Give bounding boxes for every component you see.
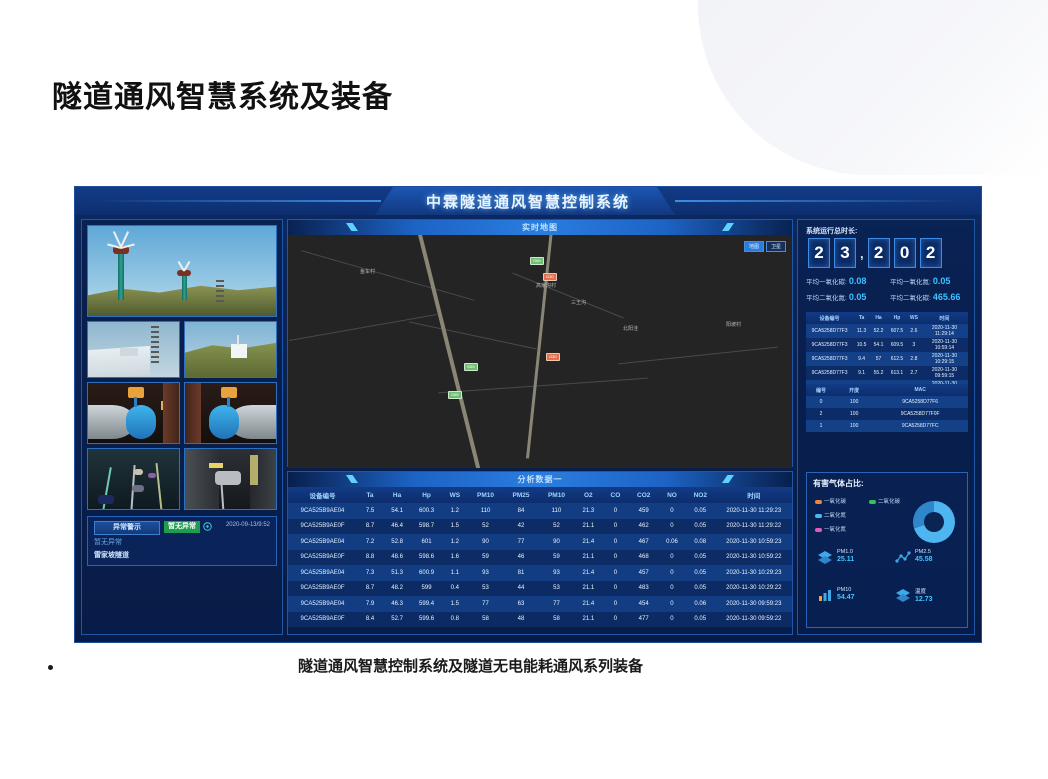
legend-item-no2: 二氧化氮 [815, 511, 846, 519]
avg-co: 平均一氧化碳:0.08 [806, 276, 866, 286]
table-cell: 63 [503, 596, 538, 612]
table-row[interactable]: 9CA525B9AE047.252.86011.290779021.404670… [288, 534, 792, 550]
table-row[interactable]: 9CA525B9AE047.554.1600.31.21108411021.30… [288, 503, 792, 519]
table-cell: 93 [468, 565, 503, 581]
column-header: 编号 [806, 384, 836, 396]
table-cell: 0.05 [685, 519, 716, 535]
camera-view-traffic-tunnel[interactable] [184, 448, 277, 510]
table-row[interactable]: 9CA525B9AE047.351.3600.91.193819321.4045… [288, 565, 792, 581]
table-row[interactable]: 01009CA5258D77F6 [806, 396, 968, 408]
runtime-digit: 0 [894, 238, 916, 268]
column-header: Ta [357, 487, 383, 503]
table-cell: 0 [659, 550, 685, 566]
avg-no-value: 0.05 [933, 276, 951, 286]
table-cell: 52.8 [383, 534, 411, 550]
actuator-stem [227, 397, 230, 407]
alarm-timestamp: 2020-09-13/9:52 [226, 522, 270, 528]
fan-housing [126, 405, 156, 439]
gas-panel-title: 有害气体占比: [813, 478, 864, 489]
table-cell: 0 [602, 503, 628, 519]
kpi-label: PM10 [837, 587, 851, 593]
table-cell: 1.6 [442, 550, 468, 566]
runtime-label: 系统运行总时长: [806, 226, 857, 236]
legend-label: 二氧化氮 [824, 513, 846, 519]
kpi-value: 12.73 [915, 596, 933, 603]
table-cell: 2020-11-30 10:59:22 [716, 550, 792, 566]
table-cell: 77 [539, 596, 574, 612]
runtime-digit: 3 [834, 238, 856, 268]
table-cell: 54.1 [383, 503, 411, 519]
table-cell: 1.2 [442, 503, 468, 519]
column-header: CO2 [628, 487, 659, 503]
table-cell: 59 [539, 550, 574, 566]
table-cell: 454 [628, 596, 659, 612]
cell-device-id: 0 [806, 396, 836, 408]
cell-device-id: 9CA5258D77F3 [806, 366, 853, 380]
map-panel-title: 实时地图 [288, 220, 792, 235]
table-cell: 55.2 [870, 366, 887, 380]
table-cell: 1.2 [442, 534, 468, 550]
legend-item-no: 一氧化氮 [815, 525, 846, 533]
tunnel-light [250, 455, 258, 485]
table-cell: 0.05 [685, 581, 716, 597]
dashboard-title: 中霖隧道通风智慧控制系统 [75, 191, 981, 212]
table-cell: 0 [602, 565, 628, 581]
kpi-label: PM1.0 [837, 549, 853, 555]
analysis-panel: 分析数据一 设备编号TaHaHpWSPM10PM25PM10O2COCO2NON… [287, 471, 793, 635]
kpi-value: 45.58 [915, 556, 933, 563]
map-place-label: 北阳洼 [623, 325, 638, 332]
column-header: NO [659, 487, 685, 503]
table-cell: 2.8 [907, 352, 921, 366]
table-cell: 46.3 [383, 596, 411, 612]
kpi-pm10: PM10 54.47 [837, 587, 855, 601]
runtime-digit: 2 [868, 238, 890, 268]
table-cell: 0.06 [659, 534, 685, 550]
table-cell: 21.4 [574, 596, 602, 612]
table-row[interactable]: 9CA525B9AE047.946.3599.41.577637721.4045… [288, 596, 792, 612]
avg-no-label: 平均一氧化氮: [890, 279, 931, 286]
equipment-block [120, 348, 138, 356]
table-cell: 48.6 [383, 550, 411, 566]
column-header: 设备编号 [288, 487, 357, 503]
alarm-tab-button[interactable]: 异常警示 [94, 521, 160, 535]
table-cell: 2020-11-30 11:29:22 [716, 519, 792, 535]
map-layer-controls[interactable]: 地图 卫星 [744, 241, 786, 252]
table-cell: 598.6 [411, 550, 442, 566]
column-header: WS [907, 312, 921, 324]
kpi-value: 25.11 [837, 556, 854, 563]
table-cell: 3 [907, 338, 921, 352]
table-cell: 2.6 [907, 324, 921, 338]
column-header: CO [602, 487, 628, 503]
dashboard-window: 中霖隧道通风智慧控制系统 [74, 186, 982, 643]
table-cell: 46.4 [383, 519, 411, 535]
table-cell: 8.8 [357, 550, 383, 566]
highway-shield: G65 [448, 391, 462, 399]
alarm-location-name: 雷家坡隧道 [94, 550, 129, 560]
map-boundary [512, 273, 624, 319]
runtime-digit: 2 [808, 238, 830, 268]
table-cell: 59 [468, 550, 503, 566]
table-cell: 613.1 [887, 366, 907, 380]
runtime-digit: 2 [920, 238, 942, 268]
table-cell: 21.4 [574, 534, 602, 550]
table-cell: 0.05 [685, 550, 716, 566]
table-cell: 7.2 [357, 534, 383, 550]
table-cell: 10.5 [853, 338, 870, 352]
table-cell: 467 [628, 534, 659, 550]
station-mast [237, 335, 239, 345]
column-header: MAC [872, 384, 968, 396]
table-cell: 46 [503, 550, 538, 566]
map-boundary [409, 321, 536, 349]
table-cell: 0 [602, 581, 628, 597]
table-header-row: 设备编号TaHaHpWS时间 [806, 312, 968, 324]
table-row[interactable]: 11009CA5258D77FC [806, 420, 968, 432]
slide-corner-decoration [698, 0, 1048, 175]
cell-device-id: 9CA5258D77F3 [806, 338, 853, 352]
table-row[interactable]: 9CA525B9AE0F8.748.25990.453445321.104830… [288, 581, 792, 597]
avg-co2-label: 平均二氧化碳: [890, 295, 931, 302]
highway-shield: G30 [546, 353, 560, 361]
runtime-separator: , [860, 246, 864, 261]
table-cell: 9.1 [853, 366, 870, 380]
table-cell: 21.4 [574, 565, 602, 581]
table-cell: 110 [468, 503, 503, 519]
cell-device-id: 9CA525B9AE0F [288, 550, 357, 566]
column-header: Hp [411, 487, 442, 503]
table-cell: 52.2 [870, 324, 887, 338]
table-cell: 457 [628, 565, 659, 581]
table-cell: 9.4 [853, 352, 870, 366]
map-boundary [301, 250, 474, 301]
table-cell: 52 [539, 519, 574, 535]
table-cell: 58 [468, 612, 503, 628]
map-boundary [618, 347, 777, 365]
cell-device-id: 1 [806, 420, 836, 432]
column-header: Hp [887, 312, 907, 324]
turbine-pole-2 [182, 274, 187, 300]
runtime-digits: 23,202 [808, 238, 942, 268]
map-layer-map-button[interactable]: 地图 [744, 241, 764, 252]
avg-no: 平均一氧化氮:0.05 [890, 276, 950, 286]
vehicle [98, 495, 114, 504]
line-chart-icon [895, 549, 911, 565]
table-cell: 2020-11-30 10:29:15 [921, 352, 968, 366]
gas-ratio-panel: 有害气体占比: 一氧化碳 二氧化碳 二氧化氮 一氧化氮 PM1.0 25.11 [806, 472, 968, 628]
alarm-panel: 异常警示 暂无异常 2020-09-13/9:52 暂无异常 雷家坡隧道 [87, 516, 277, 566]
vehicle [215, 471, 241, 485]
legend-swatch-icon [815, 500, 822, 504]
column-header: 时间 [716, 487, 792, 503]
map-place-label: 三王沟 [571, 299, 586, 306]
table-cell: 483 [628, 581, 659, 597]
table-cell: 0 [659, 565, 685, 581]
table-cell: 0 [659, 612, 685, 628]
cell-device-id: 2 [806, 408, 836, 420]
kpi-label: PM2.5 [915, 549, 931, 555]
tunnel-wall [185, 449, 219, 509]
analysis-panel-title: 分析数据一 [288, 472, 792, 487]
map-panel: 实时地图 G65 G65 G65 G30 G30 鱼车村 三王沟 北阳洼 阳坡村… [287, 219, 793, 467]
column-header: 开度 [836, 384, 872, 396]
camera-view-equipment-left[interactable] [87, 321, 180, 378]
cell-device-id: 9CA525B9AE04 [288, 596, 357, 612]
table-cell: 607.5 [887, 324, 907, 338]
avg-no2-value: 0.05 [849, 292, 867, 302]
table-cell: 1.1 [442, 565, 468, 581]
map-place-label: 高家沟村 [536, 282, 556, 289]
table-row[interactable]: 9CA5258D77F311.352.2607.52.62020-11-30 1… [806, 324, 968, 338]
table-cell: 462 [628, 519, 659, 535]
table-cell: 100 [836, 408, 872, 420]
cell-device-id: 9CA5258D77F3 [806, 324, 853, 338]
avg-no2: 平均二氧化氮:0.05 [806, 292, 866, 302]
table-cell: 44 [503, 581, 538, 597]
table-cell: 612.5 [887, 352, 907, 366]
cell-device-id: 9CA525B9AE04 [288, 534, 357, 550]
table-cell: 0 [659, 503, 685, 519]
camera-view-traffic-night[interactable] [87, 448, 180, 510]
table-cell: 0.4 [442, 581, 468, 597]
column-header: O2 [574, 487, 602, 503]
table-cell: 21.3 [574, 503, 602, 519]
column-header: NO2 [685, 487, 716, 503]
tunnel-wall [163, 383, 179, 443]
table-cell: 48.2 [383, 581, 411, 597]
table-cell: 0 [659, 596, 685, 612]
right-column: 系统运行总时长: 23,202 平均一氧化碳:0.08 平均一氧化氮:0.05 … [797, 219, 975, 635]
table-row[interactable]: 21009CA5258D77F0F [806, 408, 968, 420]
kpi-label: 温度 [915, 589, 926, 595]
column-header: PM25 [503, 487, 538, 503]
table-cell: 21.1 [574, 612, 602, 628]
actuator-stem [134, 397, 137, 407]
avg-co-value: 0.08 [849, 276, 867, 286]
table-cell: 0.8 [442, 612, 468, 628]
table-cell: 57 [870, 352, 887, 366]
kpi-value: 54.47 [837, 594, 855, 601]
alarm-status-badge: 暂无异常 [164, 521, 200, 533]
table-cell: 21.1 [574, 550, 602, 566]
cell-device-id: 9CA525B9AE0F [288, 612, 357, 628]
table-cell: 2020-11-30 09:59:15 [921, 366, 968, 380]
map-place-label: 阳坡村 [726, 321, 741, 328]
column-header: PM10 [468, 487, 503, 503]
table-cell: 477 [628, 612, 659, 628]
tarp-cover [88, 346, 150, 378]
vehicle [132, 485, 144, 492]
legend-label: 二氧化碳 [878, 499, 900, 505]
table-cell: 0 [602, 596, 628, 612]
cell-device-id: 9CA525B9AE0F [288, 581, 357, 597]
fan-housing [209, 405, 239, 439]
table-cell: 53 [539, 581, 574, 597]
table-cell: 1.5 [442, 519, 468, 535]
table-cell: 0.05 [685, 612, 716, 628]
table-cell: 2020-11-30 11:29:23 [716, 503, 792, 519]
location-icon [203, 522, 212, 531]
table-cell: 51.3 [383, 565, 411, 581]
table-cell: 21.1 [574, 519, 602, 535]
legend-item-co2: 二氧化碳 [869, 497, 900, 505]
highway-shield: G65 [530, 257, 544, 265]
legend-item-co: 一氧化碳 [815, 497, 846, 505]
map-place-label: 鱼车村 [360, 268, 375, 275]
vehicle [148, 473, 156, 478]
table-cell: 0.08 [685, 534, 716, 550]
table-cell: 599.4 [411, 596, 442, 612]
turbine-pole [118, 252, 124, 300]
table-cell: 9CA5258D77F6 [872, 396, 968, 408]
table-cell: 90 [468, 534, 503, 550]
table-cell: 8.4 [357, 612, 383, 628]
road-curb-marking [209, 463, 223, 468]
table-cell: 2020-11-30 10:29:22 [716, 581, 792, 597]
column-header: WS [442, 487, 468, 503]
table-cell: 2020-11-30 10:59:23 [716, 534, 792, 550]
column-header: Ha [870, 312, 887, 324]
table-cell: 0 [602, 534, 628, 550]
bar-chart-icon [817, 587, 833, 603]
table-row[interactable]: 9CA525B9AE0F8.848.6598.61.659465921.1046… [288, 550, 792, 566]
table-cell: 52.7 [383, 612, 411, 628]
cell-device-id: 9CA525B9AE0F [288, 519, 357, 535]
table-cell: 52 [468, 519, 503, 535]
table-cell: 7.3 [357, 565, 383, 581]
lattice-tower [216, 280, 224, 304]
legend-label: 一氧化碳 [824, 499, 846, 505]
column-header: Ha [383, 487, 411, 503]
page-title: 隧道通风智慧系统及装备 [52, 72, 393, 116]
table-cell: 0.05 [685, 503, 716, 519]
table-cell: 601 [411, 534, 442, 550]
analysis-table: 设备编号TaHaHpWSPM10PM25PM10O2COCO2NONO2时间 9… [288, 487, 792, 627]
table-cell: 2020-11-30 09:59:23 [716, 596, 792, 612]
table-row[interactable]: 9CA5258D77F39.457612.52.82020-11-30 10:2… [806, 352, 968, 366]
table-cell: 600.3 [411, 503, 442, 519]
table-cell: 468 [628, 550, 659, 566]
map-canvas[interactable]: G65 G65 G65 G30 G30 鱼车村 三王沟 北阳洼 阳坡村 高家沟村… [288, 235, 792, 468]
table-cell: 90 [539, 534, 574, 550]
table-row[interactable]: 9CA525B9AE0F8.452.7599.60.858485821.1047… [288, 612, 792, 628]
table-cell: 459 [628, 503, 659, 519]
table-cell: 42 [503, 519, 538, 535]
table-row[interactable]: 9CA5258D77F310.554.1609.532020-11-30 10:… [806, 338, 968, 352]
bullet-icon [48, 665, 53, 670]
camera-view-hillside-station[interactable] [184, 321, 277, 378]
table-cell: 11.3 [853, 324, 870, 338]
table-cell: 77 [468, 596, 503, 612]
table-cell: 598.7 [411, 519, 442, 535]
device-table: 设备编号TaHaHpWS时间 9CA5258D77F311.352.2607.5… [806, 312, 968, 394]
camera-view-fan-duct-2[interactable] [184, 382, 277, 444]
legend-label: 一氧化氮 [824, 527, 846, 533]
legend-swatch-icon [815, 514, 822, 518]
table-cell: 84 [503, 503, 538, 519]
table-cell: 0.05 [685, 565, 716, 581]
table-cell: 58 [539, 612, 574, 628]
table-cell: 2020-11-30 10:59:14 [921, 338, 968, 352]
legend-swatch-icon [869, 500, 876, 504]
valve-table: 编号开度MAC 01009CA5258D77F621009CA5258D77F0… [806, 384, 968, 432]
map-boundary [438, 378, 648, 394]
table-cell: 2020-11-30 10:29:23 [716, 565, 792, 581]
kpi-pm1: PM1.0 25.11 [837, 549, 854, 563]
table-cell: 100 [836, 420, 872, 432]
legend-swatch-icon [815, 528, 822, 532]
table-cell: 599.6 [411, 612, 442, 628]
cell-device-id: 9CA5258D77F3 [806, 352, 853, 366]
table-cell: 9CA5258D77FC [872, 420, 968, 432]
map-layer-satellite-button[interactable]: 卫星 [766, 241, 786, 252]
table-cell: 599 [411, 581, 442, 597]
alarm-message: 暂无异常 [94, 537, 122, 547]
layers-icon [895, 587, 911, 603]
column-header: 时间 [921, 312, 968, 324]
table-row[interactable]: 9CA525B9AE0F8.746.4598.71.552425221.1046… [288, 519, 792, 535]
caption: 隧道通风智慧控制系统及隧道无电能耗通风系列装备 [40, 655, 840, 683]
table-cell: 1.5 [442, 596, 468, 612]
table-header-row: 设备编号TaHaHpWSPM10PM25PM10O2COCO2NONO2时间 [288, 487, 792, 503]
table-cell: 110 [539, 503, 574, 519]
avg-co-label: 平均一氧化碳: [806, 279, 847, 286]
highway-shield: G30 [543, 273, 557, 281]
camera-view-turbine-hill[interactable] [87, 225, 277, 317]
caption-text: 隧道通风智慧控制系统及隧道无电能耗通风系列装备 [298, 655, 643, 676]
highway-route [417, 235, 484, 468]
table-cell: 7.5 [357, 503, 383, 519]
table-cell: 2020-11-30 11:29:14 [921, 324, 968, 338]
column-header: 设备编号 [806, 312, 853, 324]
kpi-pm25: PM2.5 45.58 [915, 549, 933, 563]
table-cell: 93 [539, 565, 574, 581]
table-cell: 77 [503, 534, 538, 550]
table-cell: 81 [503, 565, 538, 581]
table-cell: 609.5 [887, 338, 907, 352]
cell-device-id: 9CA525B9AE04 [288, 503, 357, 519]
avg-co2: 平均二氧化碳:465.66 [890, 292, 960, 302]
avg-co2-value: 465.66 [933, 292, 961, 302]
table-cell: 0 [659, 581, 685, 597]
column-header: PM10 [539, 487, 574, 503]
gas-donut-chart [913, 501, 955, 543]
table-cell: 8.7 [357, 581, 383, 597]
table-cell: 100 [836, 396, 872, 408]
table-cell: 48 [503, 612, 538, 628]
table-row[interactable]: 9CA5258D77F39.155.2613.12.72020-11-30 09… [806, 366, 968, 380]
table-cell: 0 [659, 519, 685, 535]
table-cell: 0 [602, 550, 628, 566]
kpi-temperature: 温度 12.73 [915, 587, 933, 603]
camera-view-fan-duct-1[interactable] [87, 382, 180, 444]
station-building [231, 344, 247, 358]
table-cell: 600.9 [411, 565, 442, 581]
tunnel-wall [185, 383, 201, 443]
table-header-row: 编号开度MAC [806, 384, 968, 396]
table-cell: 53 [468, 581, 503, 597]
lattice-tower [151, 326, 159, 366]
camera-column: 异常警示 暂无异常 2020-09-13/9:52 暂无异常 雷家坡隧道 [81, 219, 283, 635]
table-cell: 2020-11-30 09:59:22 [716, 612, 792, 628]
table-cell: 54.1 [870, 338, 887, 352]
table-cell: 0.06 [685, 596, 716, 612]
table-cell: 0 [602, 519, 628, 535]
column-header: Ta [853, 312, 870, 324]
layers-icon [817, 549, 833, 565]
avg-no2-label: 平均二氧化氮: [806, 295, 847, 302]
